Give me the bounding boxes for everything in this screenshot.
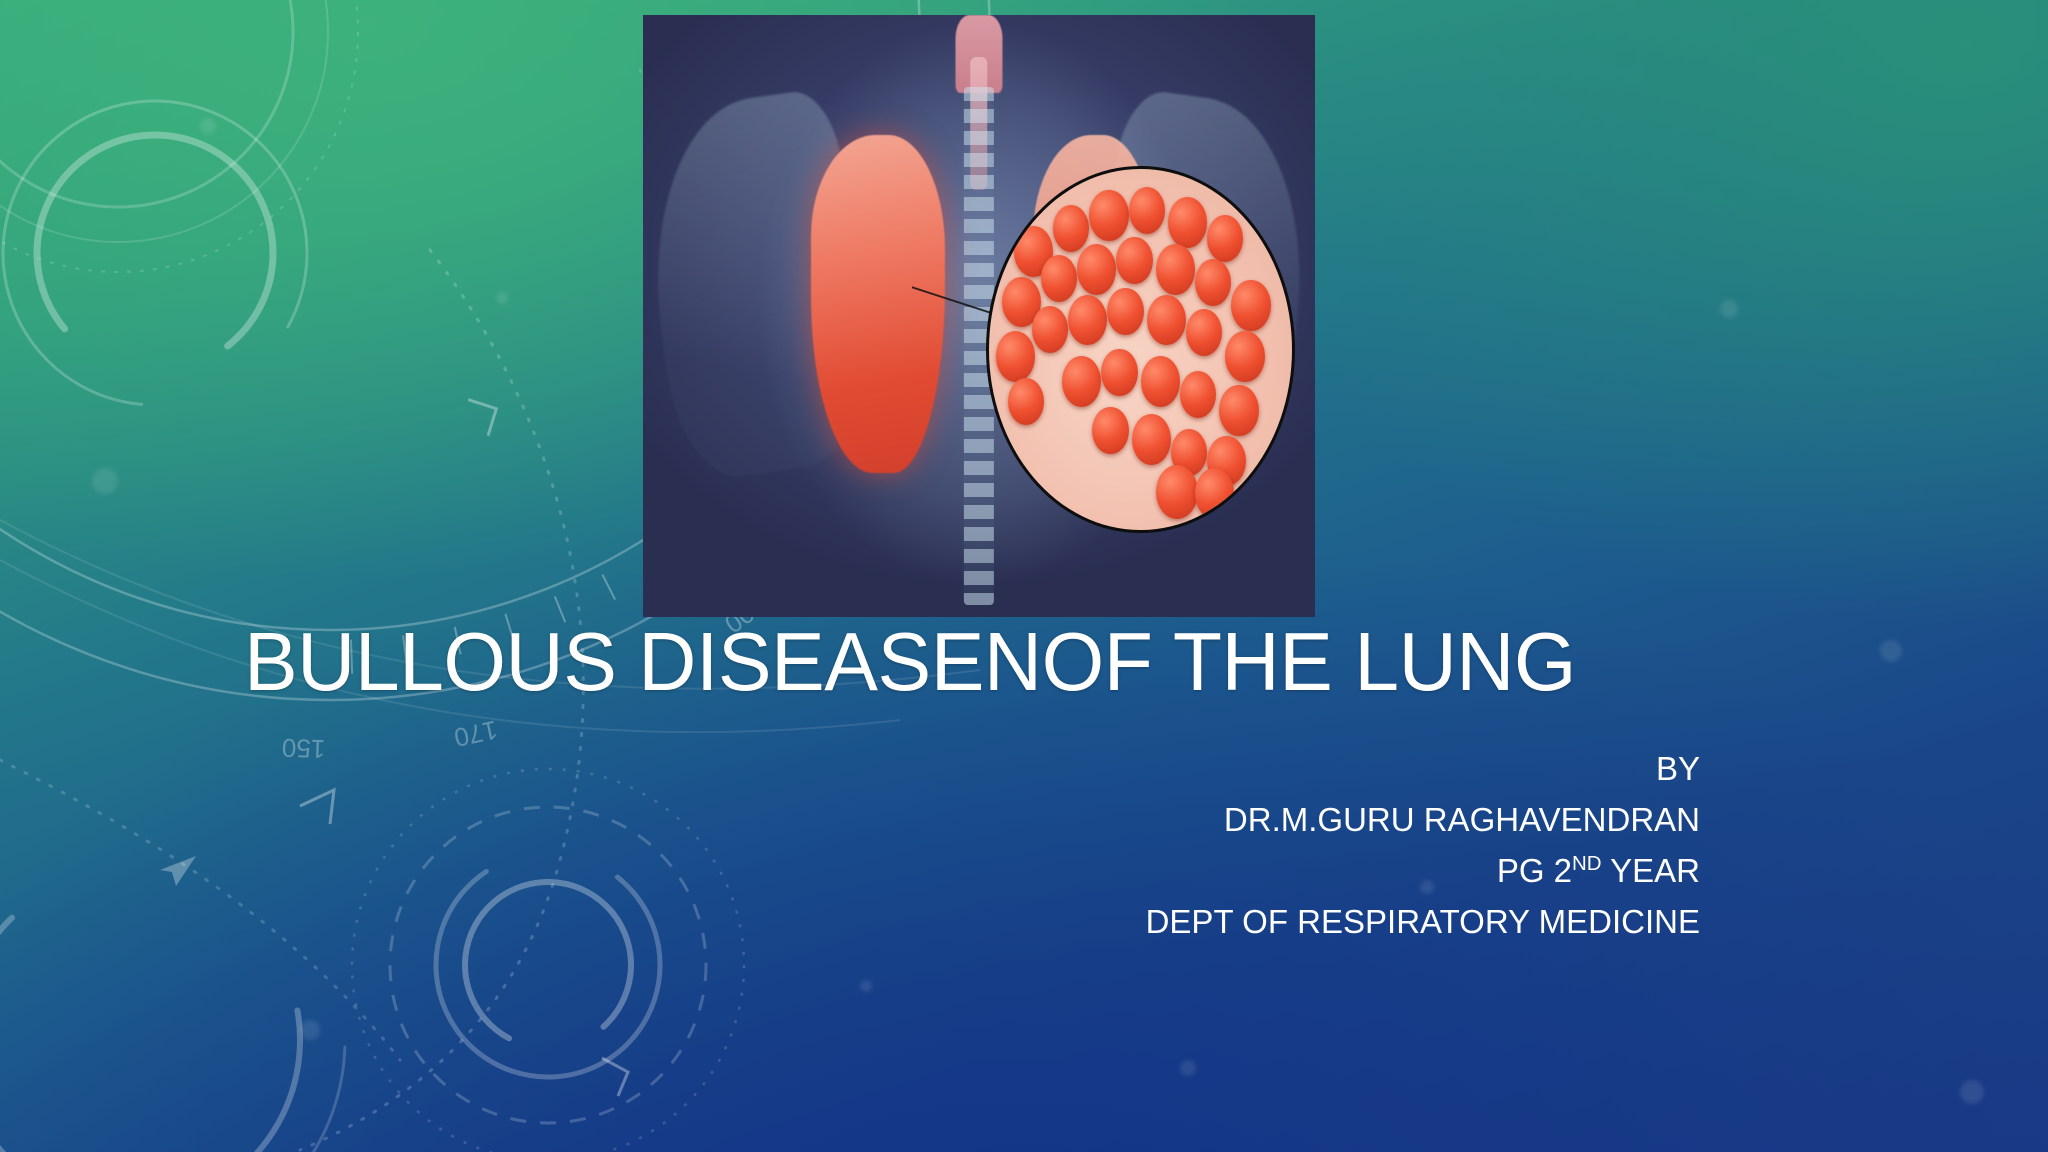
light-speck <box>1720 300 1738 318</box>
slide-subtitle-block: BY DR.M.GURU RAGHAVENDRAN PG 2ND YEAR DE… <box>700 752 1700 956</box>
alveolus <box>1032 306 1068 353</box>
presentation-slide: 140 150 170 200 220 230 240 250 260 <box>0 0 2048 1152</box>
alveolus <box>1207 215 1243 262</box>
alveoli-magnified-inset <box>986 166 1294 533</box>
alveolus <box>1068 295 1107 346</box>
light-speck <box>496 292 508 304</box>
alveolus <box>1168 197 1207 248</box>
alveolus <box>996 331 1035 382</box>
alveolus <box>1041 255 1077 302</box>
alveolus <box>1156 465 1198 519</box>
alveolus <box>1132 414 1171 465</box>
alveolus <box>1225 331 1264 382</box>
light-speck <box>1180 1060 1196 1076</box>
subtitle-year-ordinal: ND <box>1572 852 1602 875</box>
light-speck <box>92 468 118 494</box>
alveolus <box>1186 309 1222 356</box>
hud-arcs-bottom-left <box>0 791 379 1152</box>
hud-circle-cluster-top-left <box>0 0 358 272</box>
slide-title: BULLOUS DISEASENOF THE LUNG <box>144 618 1677 706</box>
light-speck <box>200 118 216 134</box>
light-speck <box>1880 640 1902 662</box>
alveolus <box>1053 205 1089 252</box>
hud-dotted-trajectory <box>0 70 712 1150</box>
hud-circle-cluster-mid-left <box>0 87 321 419</box>
alveolus <box>1129 187 1165 234</box>
subtitle-line-year: PG 2ND YEAR <box>700 854 1700 887</box>
alveolus <box>1231 280 1270 331</box>
subtitle-line-by: BY <box>700 752 1700 785</box>
alveolus <box>1116 237 1152 284</box>
alveolus <box>1008 378 1044 425</box>
alveolus <box>1180 371 1216 418</box>
alveolus <box>1147 295 1186 346</box>
alveolus <box>1101 349 1137 396</box>
alveolus <box>1156 244 1195 295</box>
alveolus <box>1062 356 1101 407</box>
svg-text:150: 150 <box>281 733 325 764</box>
alveolus <box>1219 385 1258 436</box>
subtitle-year-prefix: PG 2 <box>1497 852 1572 889</box>
light-speck <box>860 980 872 992</box>
alveolus <box>1077 244 1116 295</box>
lung-anatomy-image-canvas <box>643 15 1315 617</box>
hud-arrowhead-markers <box>160 856 196 886</box>
lung-anatomy-image <box>643 15 1315 617</box>
alveolus <box>1107 288 1143 335</box>
hud-circle-cluster-lower-left <box>352 769 744 1152</box>
alveolus <box>1195 468 1234 519</box>
subtitle-year-suffix: YEAR <box>1602 852 1700 889</box>
alveolus <box>1089 190 1128 241</box>
subtitle-line-author: DR.M.GURU RAGHAVENDRAN <box>700 803 1700 836</box>
alveolus <box>1195 259 1231 306</box>
subtitle-line-department: DEPT OF RESPIRATORY MEDICINE <box>700 905 1700 938</box>
alveolus <box>1092 407 1128 454</box>
svg-text:170: 170 <box>451 715 500 753</box>
light-speck <box>1960 1080 1984 1104</box>
alveolus <box>1141 356 1180 407</box>
light-speck <box>300 1020 320 1040</box>
